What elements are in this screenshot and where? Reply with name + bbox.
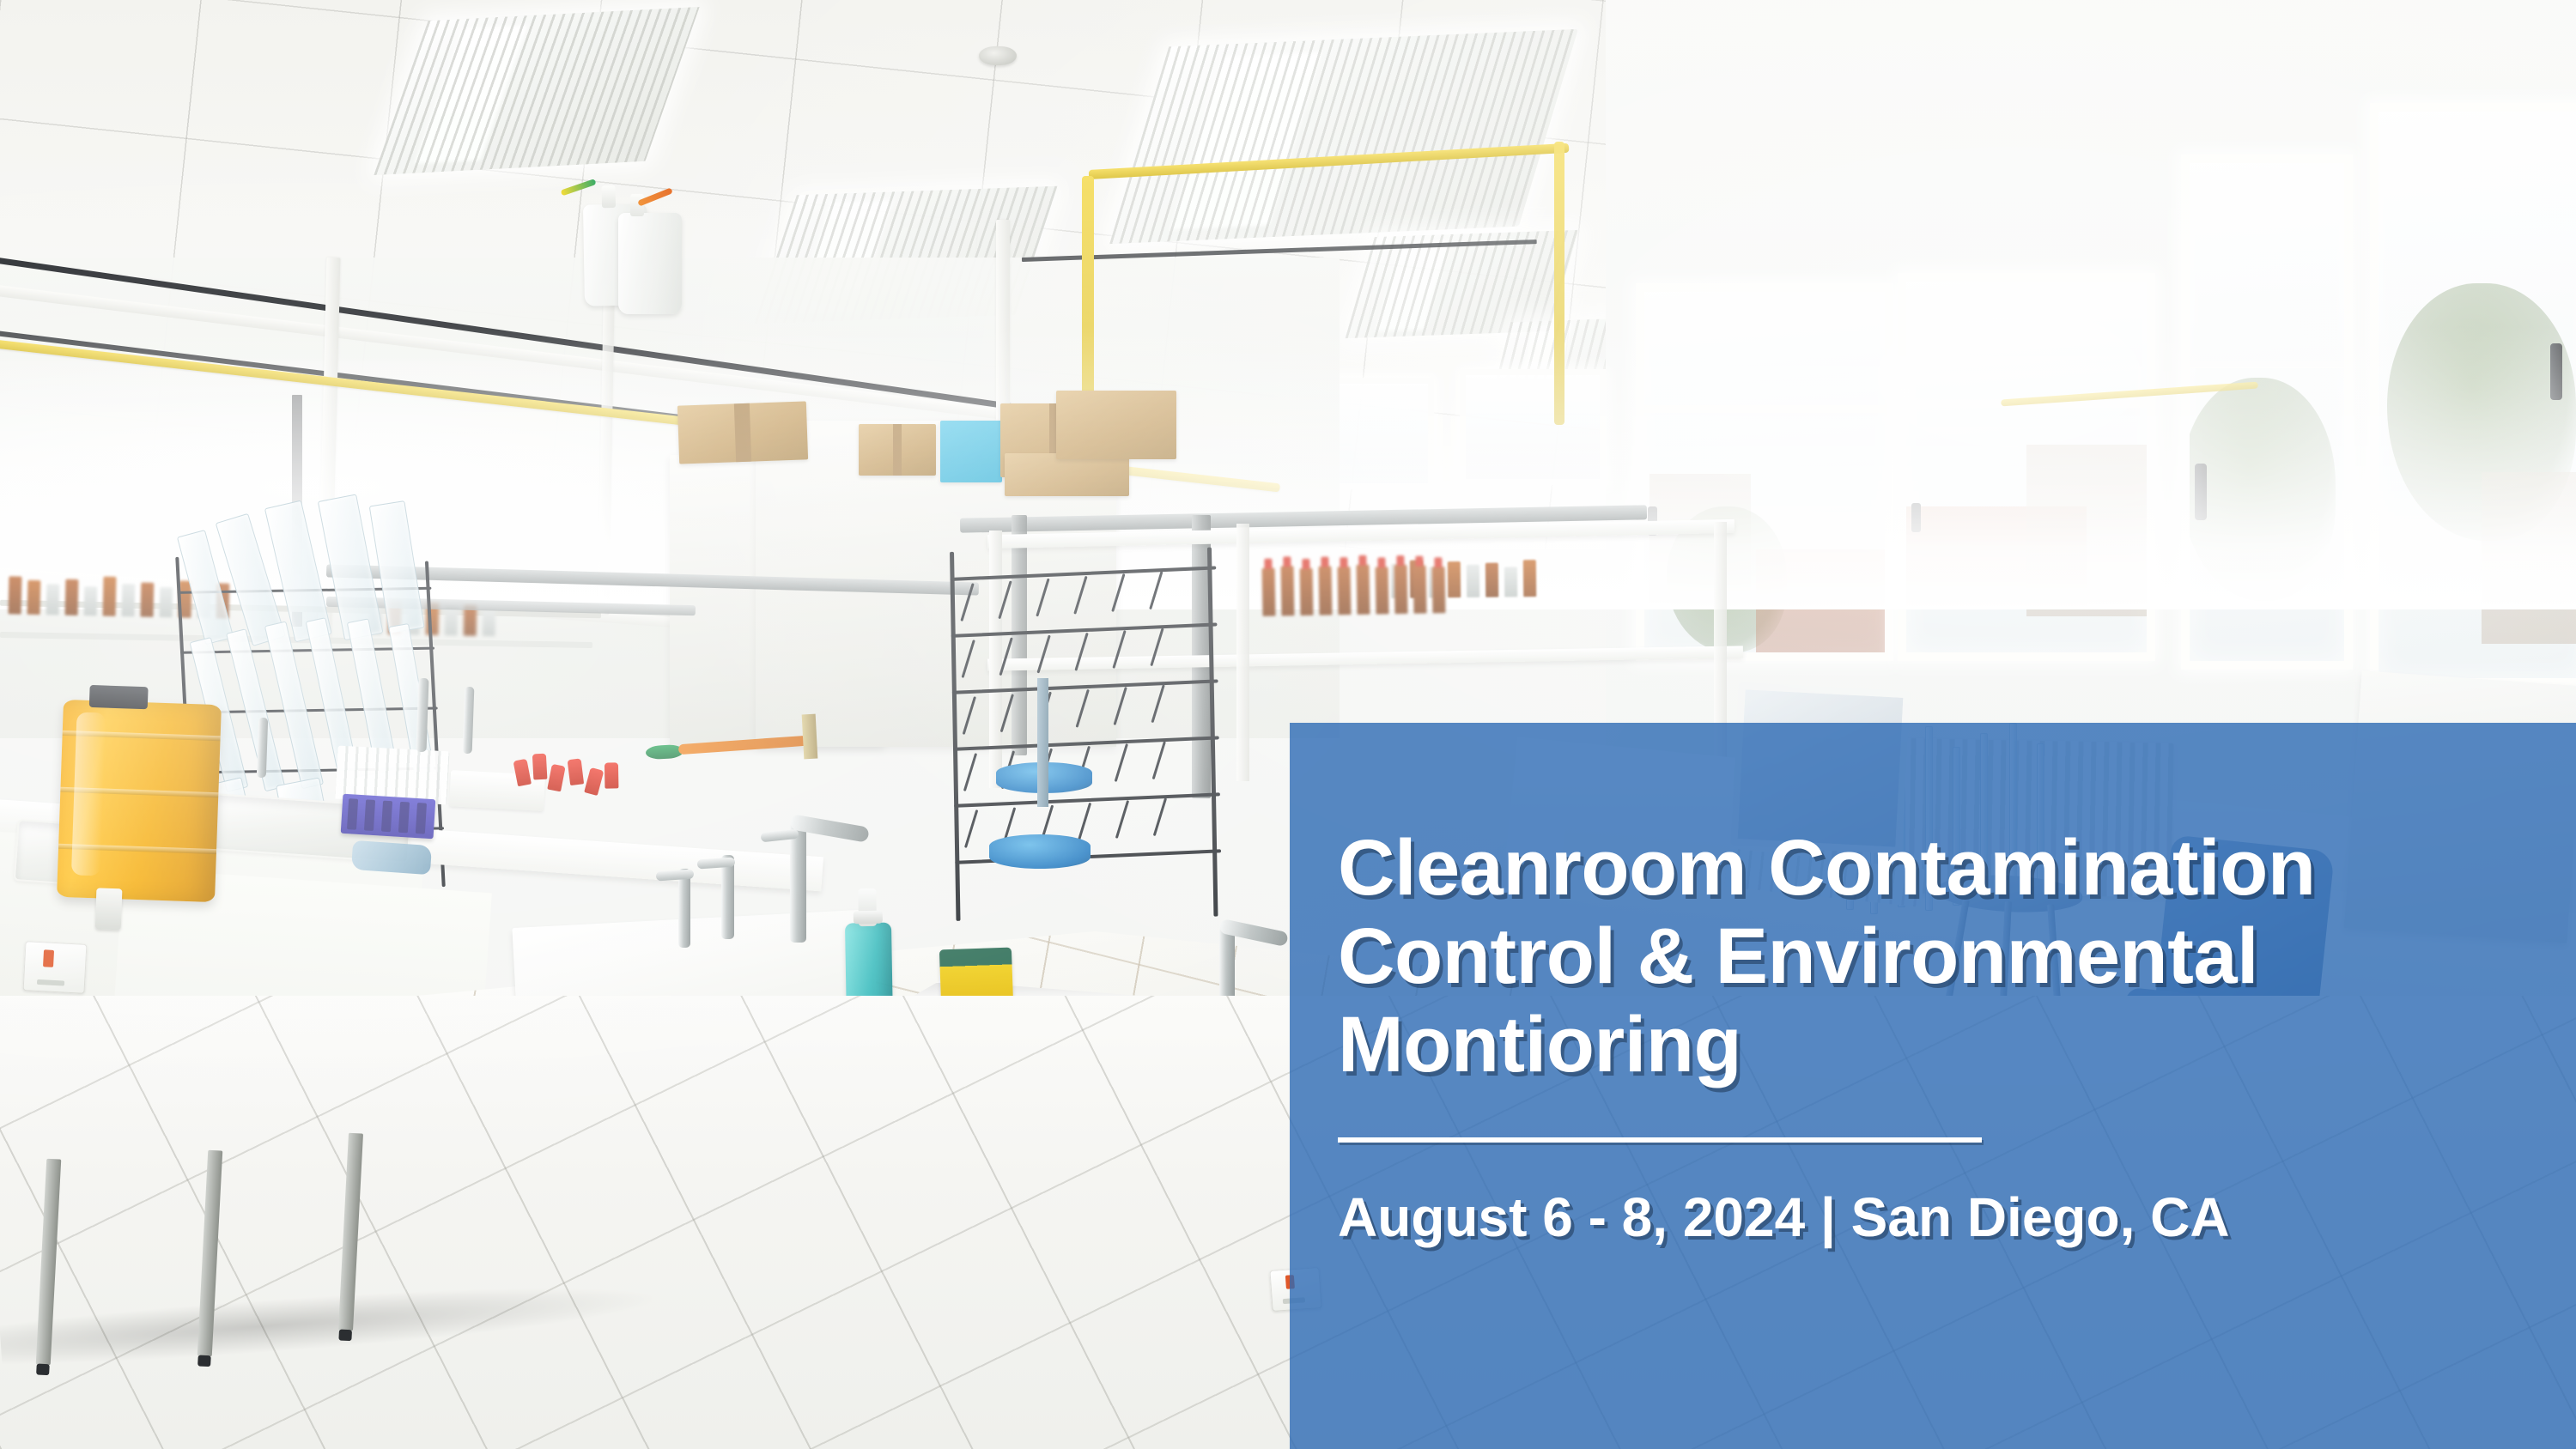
glassware-drying-rack bbox=[950, 547, 1240, 947]
title-overlay-panel: Cleanroom Contamination Control & Enviro… bbox=[1290, 723, 2576, 1449]
cardboard-box bbox=[1005, 453, 1129, 496]
cardboard-box bbox=[1056, 391, 1176, 459]
smoke-detector-icon bbox=[979, 46, 1017, 65]
ceiling-light-fixture bbox=[1109, 29, 1578, 244]
blue-test-tube-rack bbox=[341, 794, 436, 840]
event-date-location: August 6 - 8, 2024 | San Diego, CA bbox=[1338, 1185, 2524, 1249]
event-banner: Cleanroom Contamination Control & Enviro… bbox=[0, 0, 2576, 1449]
funnel-rod bbox=[1037, 678, 1048, 807]
blue-wipe-cloth bbox=[351, 840, 432, 875]
event-title-line-1: Cleanroom Contamination bbox=[1338, 824, 2524, 912]
amber-reagent-bottles bbox=[1262, 563, 1446, 616]
yellow-chemical-drum bbox=[57, 700, 222, 902]
cardboard-box bbox=[859, 424, 936, 476]
power-outlet[interactable] bbox=[23, 941, 88, 994]
event-title: Cleanroom Contamination Control & Enviro… bbox=[1338, 824, 2524, 1089]
cyan-box bbox=[940, 421, 1002, 482]
red-clamp-group bbox=[514, 751, 629, 805]
bench-faucet bbox=[463, 687, 475, 754]
blue-funnel-stand bbox=[989, 834, 1091, 869]
cardboard-box bbox=[677, 401, 808, 464]
sink-faucet bbox=[721, 855, 734, 939]
title-divider bbox=[1338, 1137, 1982, 1143]
bunsen-burner bbox=[802, 714, 818, 760]
sink-faucet bbox=[678, 869, 690, 948]
event-title-line-2: Control & Environmental bbox=[1338, 912, 2524, 1001]
shelf-post bbox=[1236, 524, 1249, 781]
sink-faucet bbox=[790, 822, 806, 943]
event-title-line-3: Montioring bbox=[1338, 1001, 2524, 1089]
wash-bottle bbox=[618, 213, 682, 314]
